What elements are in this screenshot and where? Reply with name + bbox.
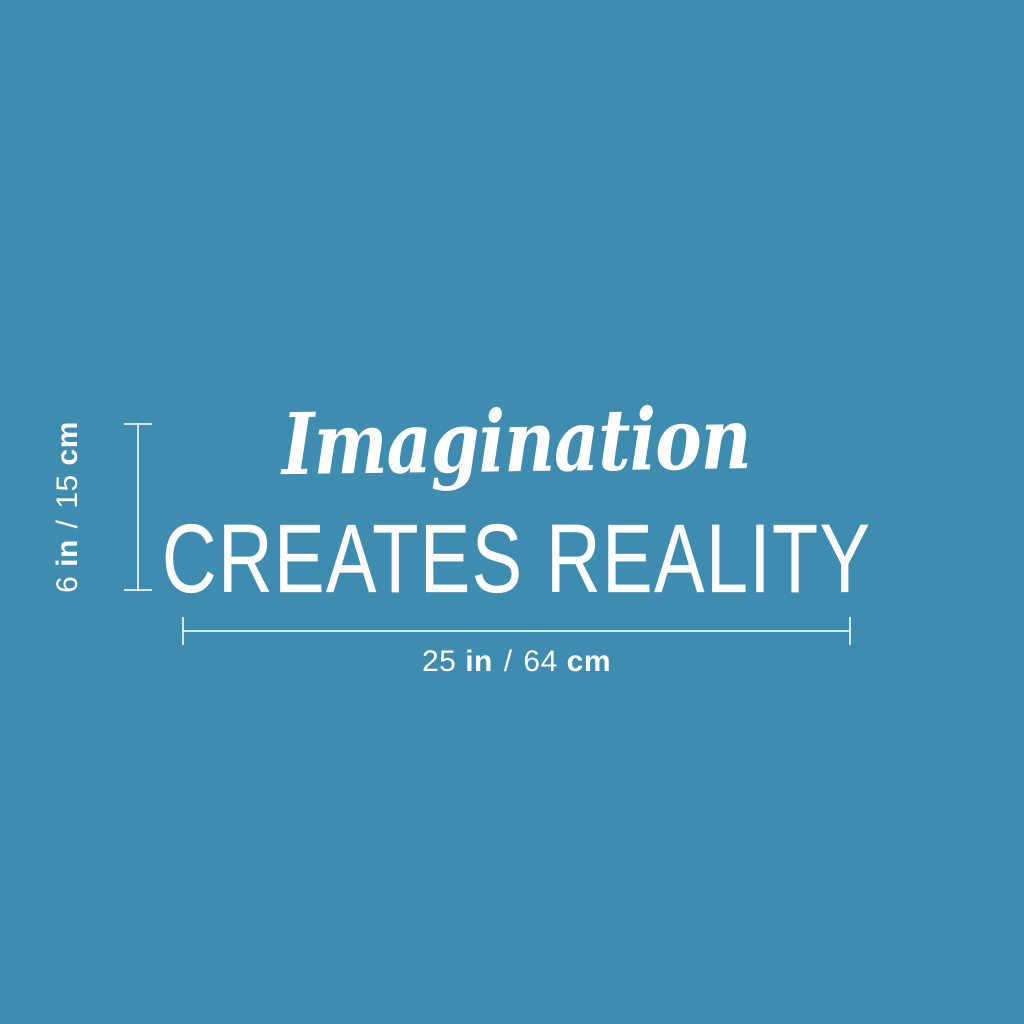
height-value-metric: 15: [51, 474, 84, 508]
height-unit-metric: cm: [51, 421, 84, 465]
height-separator: /: [51, 518, 84, 531]
width-value-imperial: 25: [422, 645, 456, 678]
height-dimension-label: 6 in / 15 cm: [51, 377, 85, 637]
width-separator: /: [502, 645, 515, 678]
width-dimension-cap-left: [182, 617, 184, 645]
width-dimension-cap-right: [849, 617, 851, 645]
height-unit-imperial: in: [51, 539, 84, 567]
height-dimension-cap-top: [124, 423, 152, 425]
width-dimension-line: [182, 630, 851, 632]
width-unit-metric: cm: [567, 645, 611, 678]
product-preview-canvas: Imagination CREATES REALITY 25 in / 64 c…: [0, 0, 1024, 1024]
wall-decal-artwork: Imagination CREATES REALITY: [182, 405, 851, 595]
height-value-imperial: 6: [51, 576, 84, 593]
width-value-metric: 64: [523, 645, 557, 678]
height-dimension-line: [137, 423, 139, 591]
decal-script-line: Imagination: [281, 397, 750, 486]
height-dimension-cap-bottom: [124, 589, 152, 591]
width-unit-imperial: in: [465, 645, 493, 678]
width-dimension-label: 25 in / 64 cm: [182, 645, 851, 679]
decal-headline-line: CREATES REALITY: [162, 510, 871, 608]
